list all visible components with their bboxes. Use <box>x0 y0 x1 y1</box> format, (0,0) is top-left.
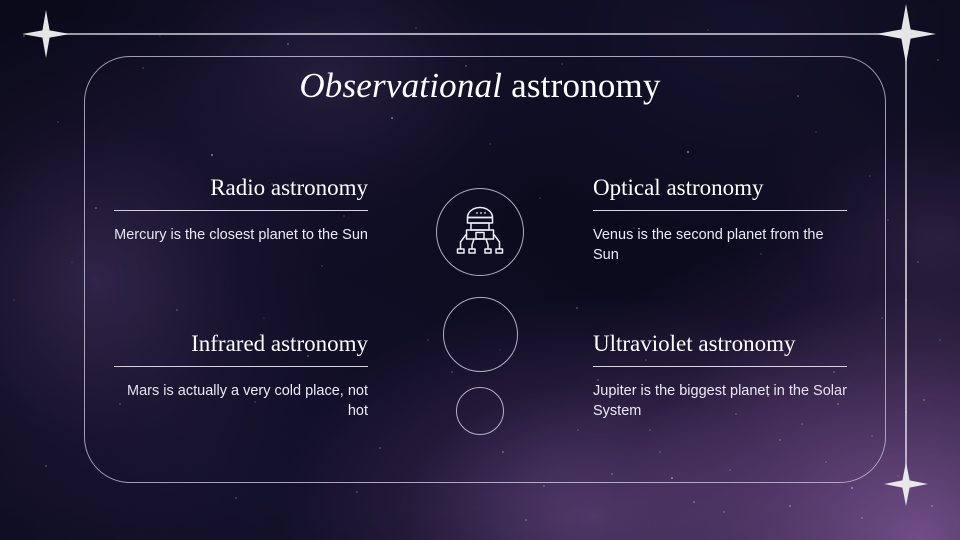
card-infrared-body: Mars is actually a very cold place, not … <box>114 381 368 422</box>
card-radio: Radio astronomy Mercury is the closest p… <box>114 174 368 245</box>
slide-canvas: Observational astronomy Radio astronomy … <box>0 0 960 540</box>
medium-circle <box>443 297 518 372</box>
card-infrared-divider <box>114 366 368 367</box>
small-circle <box>456 387 504 435</box>
card-ultraviolet: Ultraviolet astronomy Jupiter is the big… <box>593 330 847 422</box>
card-radio-heading: Radio astronomy <box>114 174 368 210</box>
card-optical-body: Venus is the second planet from the Sun <box>593 225 847 266</box>
card-optical-divider <box>593 210 847 211</box>
page-title: Observational astronomy <box>0 66 960 106</box>
card-infrared: Infrared astronomy Mars is actually a ve… <box>114 330 368 422</box>
title-emphasis: Observational <box>299 66 502 105</box>
card-radio-divider <box>114 210 368 211</box>
title-rest: astronomy <box>511 66 661 105</box>
card-infrared-heading: Infrared astronomy <box>114 330 368 366</box>
card-ultraviolet-body: Jupiter is the biggest planet in the Sol… <box>593 381 847 422</box>
card-ultraviolet-heading: Ultraviolet astronomy <box>593 330 847 366</box>
card-optical: Optical astronomy Venus is the second pl… <box>593 174 847 266</box>
card-ultraviolet-divider <box>593 366 847 367</box>
lunar-lander-icon <box>455 204 505 260</box>
card-radio-body: Mercury is the closest planet to the Sun <box>114 225 368 246</box>
card-optical-heading: Optical astronomy <box>593 174 847 210</box>
